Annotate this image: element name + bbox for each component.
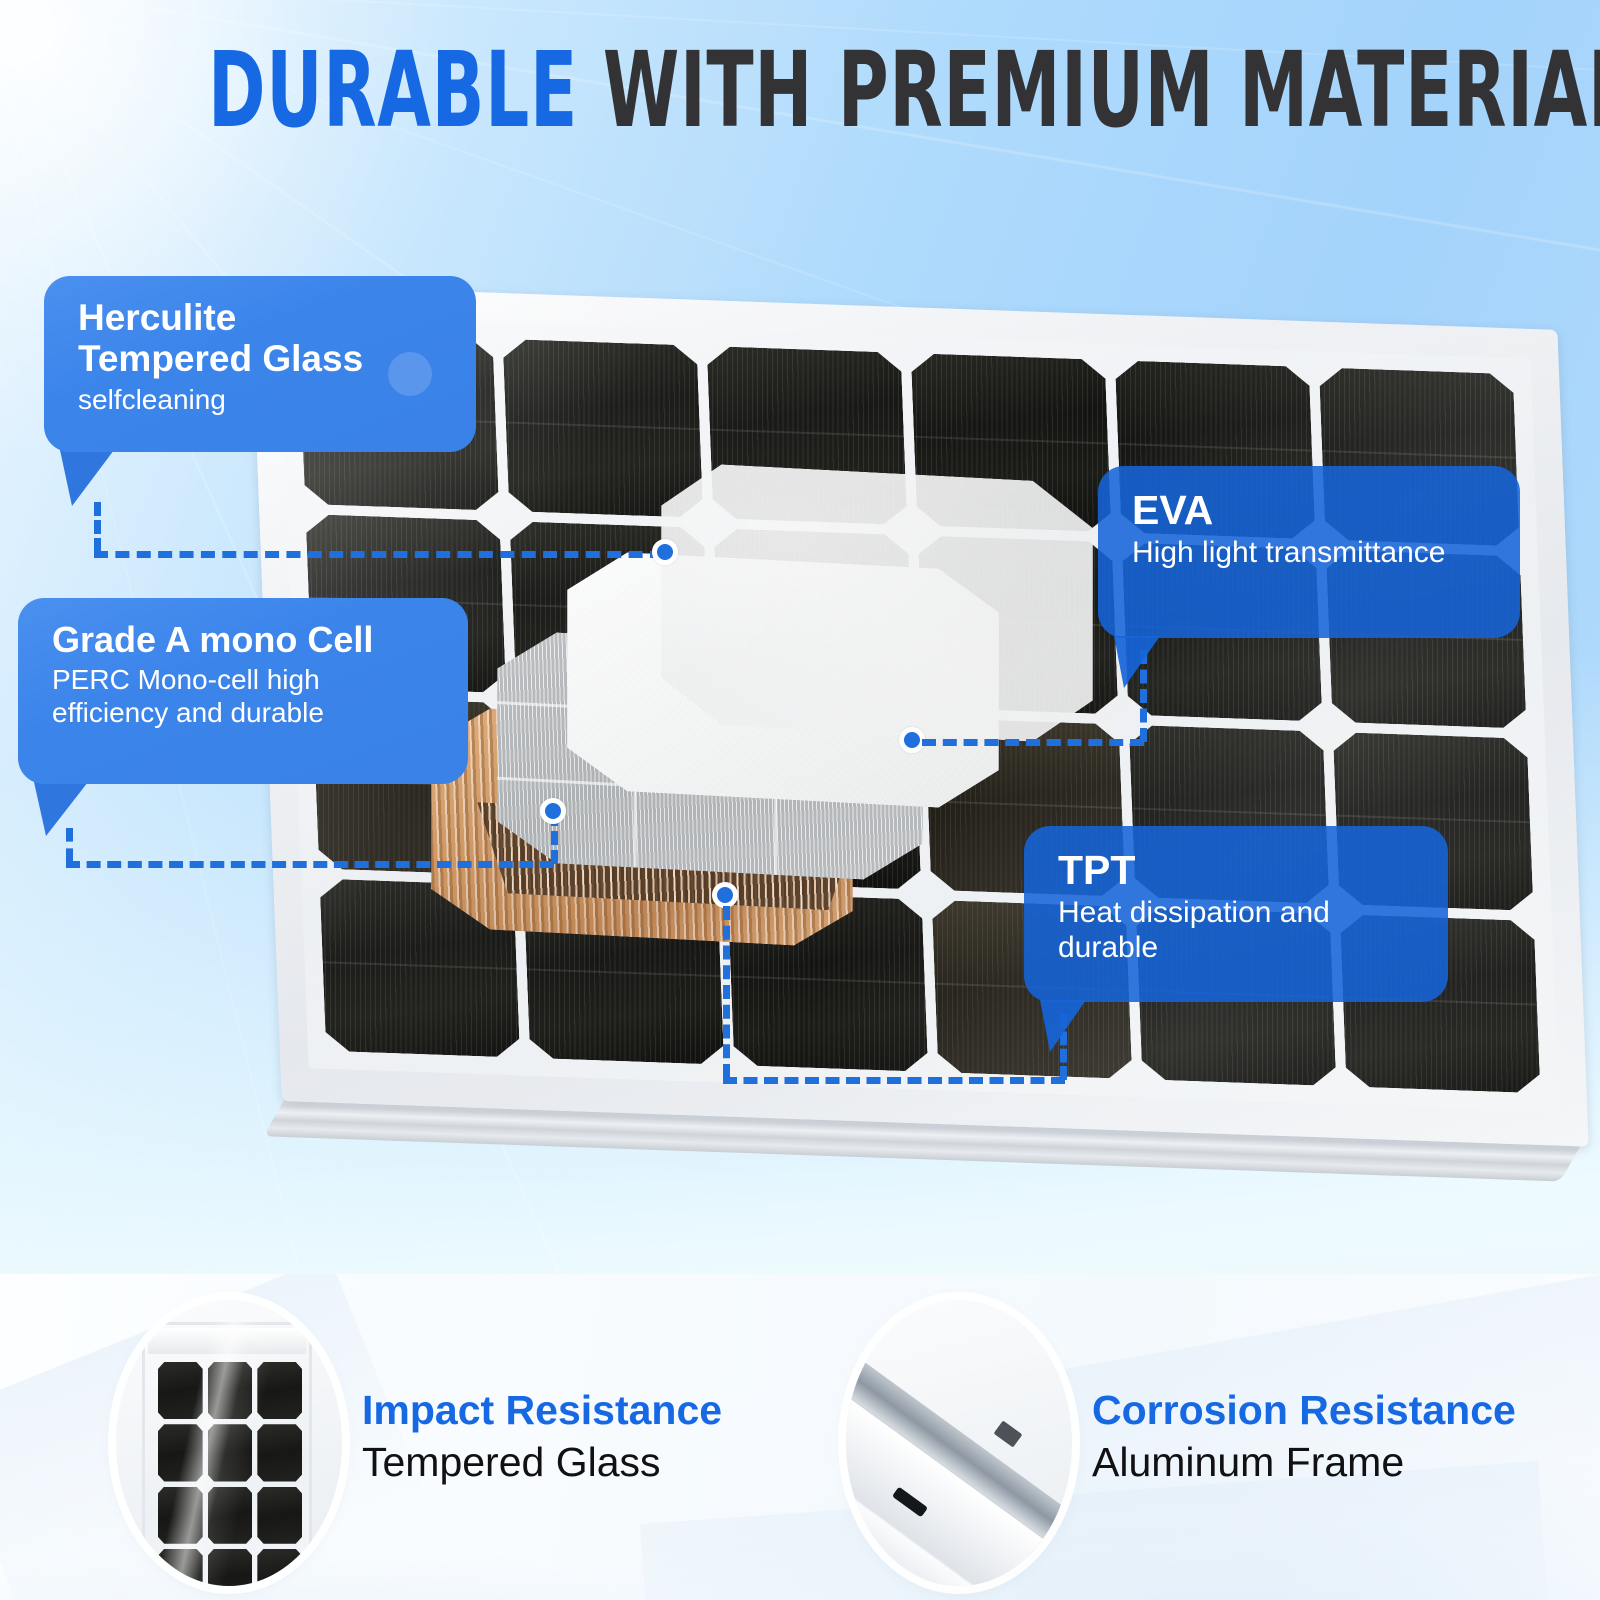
frame-drain-hole [994,1420,1023,1447]
callout-title: TPT [1058,848,1418,893]
page-title: DURABLE WITH PREMIUM MATERIALS [208,36,1392,144]
mini-panel-glare [142,1322,312,1586]
callout-subtitle: selfcleaning [78,383,446,416]
page-title-rest: WITH PREMIUM MATERIALS [578,29,1600,151]
callout-mono-cell[interactable]: Grade A mono Cell PERC Mono-cell higheff… [18,598,468,784]
callout-tpt[interactable]: TPT Heat dissipation anddurable [1024,826,1448,1002]
feature-title: Corrosion Resistance [1092,1388,1516,1434]
bottom-feature-section: Impact Resistance Tempered Glass Corrosi… [0,1274,1600,1600]
bubble-tail-eva [1114,636,1160,688]
callout-subtitle: PERC Mono-cell highefficiency and durabl… [52,663,438,729]
callout-eva[interactable]: EVA High light transmittance [1098,466,1520,638]
callout-tempered-glass[interactable]: HerculiteTempered Glass selfcleaning [44,276,476,452]
mini-panel-corner [142,1322,312,1586]
bubble-highlight-dot [388,352,432,396]
bubble-tail-tpt [1040,1000,1086,1052]
impact-resistance-image [116,1300,342,1586]
feature-subtitle: Aluminum Frame [1092,1440,1516,1486]
aluminum-frame-corner [846,1300,1072,1586]
callout-title: EVA [1132,488,1490,533]
bubble-tail-tempered-glass [60,450,114,506]
feature-title: Impact Resistance [362,1388,722,1434]
corrosion-resistance-image [846,1300,1072,1586]
callout-title: Grade A mono Cell [52,620,438,660]
callout-subtitle: Heat dissipation anddurable [1058,895,1418,966]
feature-subtitle: Tempered Glass [362,1440,722,1486]
infographic-page: DURABLE WITH PREMIUM MATERIALS [0,0,1600,1600]
bubble-tail-mono-cell [34,782,88,836]
page-title-highlight: DURABLE [208,29,578,151]
callout-subtitle: High light transmittance [1132,535,1490,570]
